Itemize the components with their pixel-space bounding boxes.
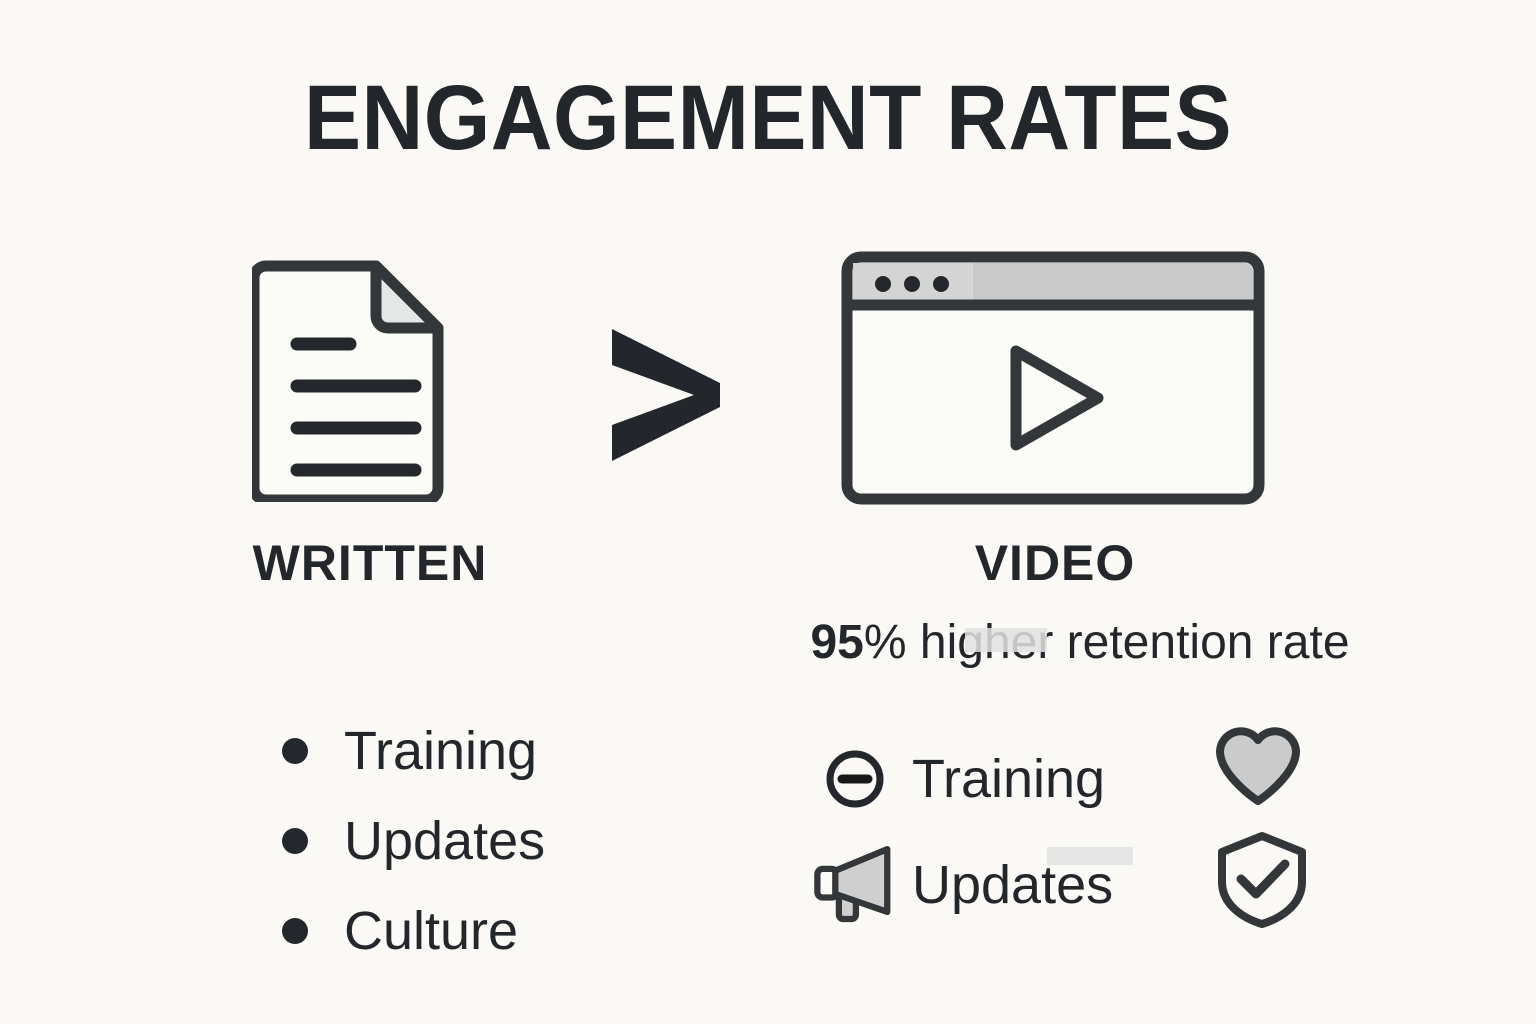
list-item-label: Updates [912, 858, 1113, 912]
infographic-canvas: ENGAGEMENT RATES WRITTEN VI [0, 0, 1536, 1024]
retention-text: higher retention rate [907, 616, 1350, 669]
list-item: Training [812, 726, 1113, 832]
document-icon [252, 252, 452, 507]
bullet-dot-icon [282, 828, 308, 854]
list-item: Updates [282, 796, 545, 886]
list-item: Culture [282, 886, 545, 976]
bullet-dot-icon [282, 918, 308, 944]
heart-icon [1212, 722, 1304, 813]
list-item: Training [282, 706, 545, 796]
minus-circle-icon [812, 748, 898, 810]
shield-check-icon [1214, 830, 1310, 935]
video-item-list: Training Updates [812, 726, 1113, 938]
video-player-window-icon [840, 250, 1266, 511]
window-dot-2 [904, 276, 920, 292]
written-item-list: Training Updates Culture [282, 706, 545, 976]
window-dot-3 [933, 276, 949, 292]
bullet-dot-icon [282, 738, 308, 764]
megaphone-icon [812, 839, 898, 931]
video-label: VIDEO [815, 538, 1295, 588]
page-title: ENGAGEMENT RATES [54, 72, 1482, 164]
window-dot-1 [875, 276, 891, 292]
list-item-label: Training [912, 752, 1105, 806]
retention-value: 95 [810, 616, 863, 669]
list-item-label: Culture [344, 904, 518, 958]
list-item-label: Updates [344, 814, 545, 868]
list-item-label: Training [344, 724, 537, 778]
retention-stat: 95% higher retention rate [700, 618, 1460, 668]
greater-than-icon [598, 325, 728, 470]
written-label: WRITTEN [130, 538, 610, 588]
retention-unit: % [864, 616, 907, 669]
list-item: Updates [812, 832, 1113, 938]
